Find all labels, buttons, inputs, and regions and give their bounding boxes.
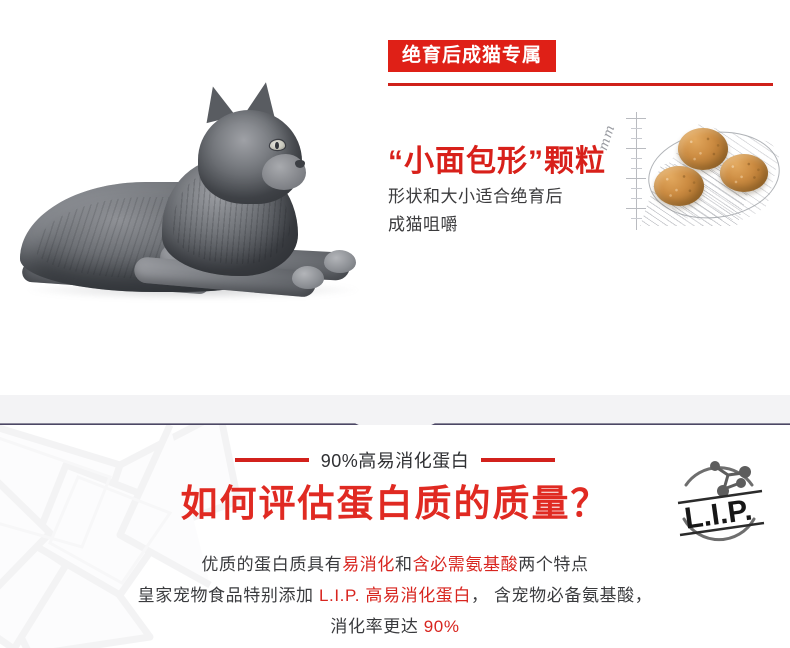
rule-right [481, 458, 555, 462]
body-copy-line: 消化率更达 90% [0, 611, 790, 642]
body-copy-highlight: 易消化 [342, 555, 395, 574]
ruler-tick [631, 218, 642, 219]
ruled-subtitle-text: 90%高易消化蛋白 [321, 447, 470, 473]
body-copy-text: 两个特点 [518, 555, 588, 574]
body-copy-highlight: L.I.P. 高易消化蛋白 [319, 586, 471, 605]
cat-paw [324, 250, 356, 273]
body-copy-text: ， 含宠物必备氨基酸， [471, 586, 652, 605]
ruler-tick [631, 168, 642, 169]
body-copy: 优质的蛋白质具有易消化和含必需氨基酸两个特点皇家宠物食品特别添加 L.I.P. … [0, 549, 790, 642]
ruler-axis [636, 112, 637, 230]
body-copy-highlight: 90% [424, 617, 460, 636]
kibble-ruler-illustration: mm [600, 112, 786, 230]
body-copy-text: 皇家宠物食品特别添加 [138, 586, 319, 605]
body-copy-line: 皇家宠物食品特别添加 L.I.P. 高易消化蛋白， 含宠物必备氨基酸， [0, 580, 790, 611]
kibble-piece [678, 128, 728, 170]
ruler-tick [631, 158, 642, 159]
ruler-tick [626, 208, 646, 209]
cat-eye [270, 140, 285, 150]
body-copy-text: 消化率更达 [330, 617, 423, 636]
section-divider-band [0, 395, 790, 425]
marketing-page: 绝育后成猫专属 “小面包形”颗粒 形状和大小适合绝育后 成猫咀嚼 mm [0, 0, 790, 648]
kibble-piece [720, 154, 768, 192]
lip-logo: L.I.P. [664, 447, 774, 557]
ruler-tick [631, 198, 642, 199]
bottom-panel: 90%高易消化蛋白 如何评估蛋白质的质量？ 优质的蛋白质具有易消化和含必需氨基酸… [0, 425, 790, 648]
cat-paw [292, 266, 324, 289]
top-panel: 绝育后成猫专属 “小面包形”颗粒 形状和大小适合绝育后 成猫咀嚼 mm [0, 0, 790, 400]
kicker-headline: “小面包形”颗粒 [388, 136, 606, 180]
rule-left [235, 458, 309, 462]
ruler-tick [631, 128, 642, 129]
product-badge: 绝育后成猫专属 [388, 40, 556, 72]
ruler-tick [626, 178, 646, 179]
body-copy-text: 和 [395, 555, 413, 574]
ruler-tick [626, 118, 646, 119]
badge-underline-rule [388, 83, 773, 86]
ruler-unit-label: mm [596, 123, 619, 153]
body-copy-highlight: 含必需氨基酸 [413, 555, 519, 574]
ruler-tick [631, 138, 642, 139]
ruler-tick [626, 148, 646, 149]
headline-block: 绝育后成猫专属 “小面包形”颗粒 形状和大小适合绝育后 成猫咀嚼 [388, 40, 778, 72]
cat-photo [12, 74, 382, 302]
ruler-tick [631, 188, 642, 189]
body-copy-text: 优质的蛋白质具有 [201, 555, 342, 574]
kibble-piece [654, 166, 704, 206]
